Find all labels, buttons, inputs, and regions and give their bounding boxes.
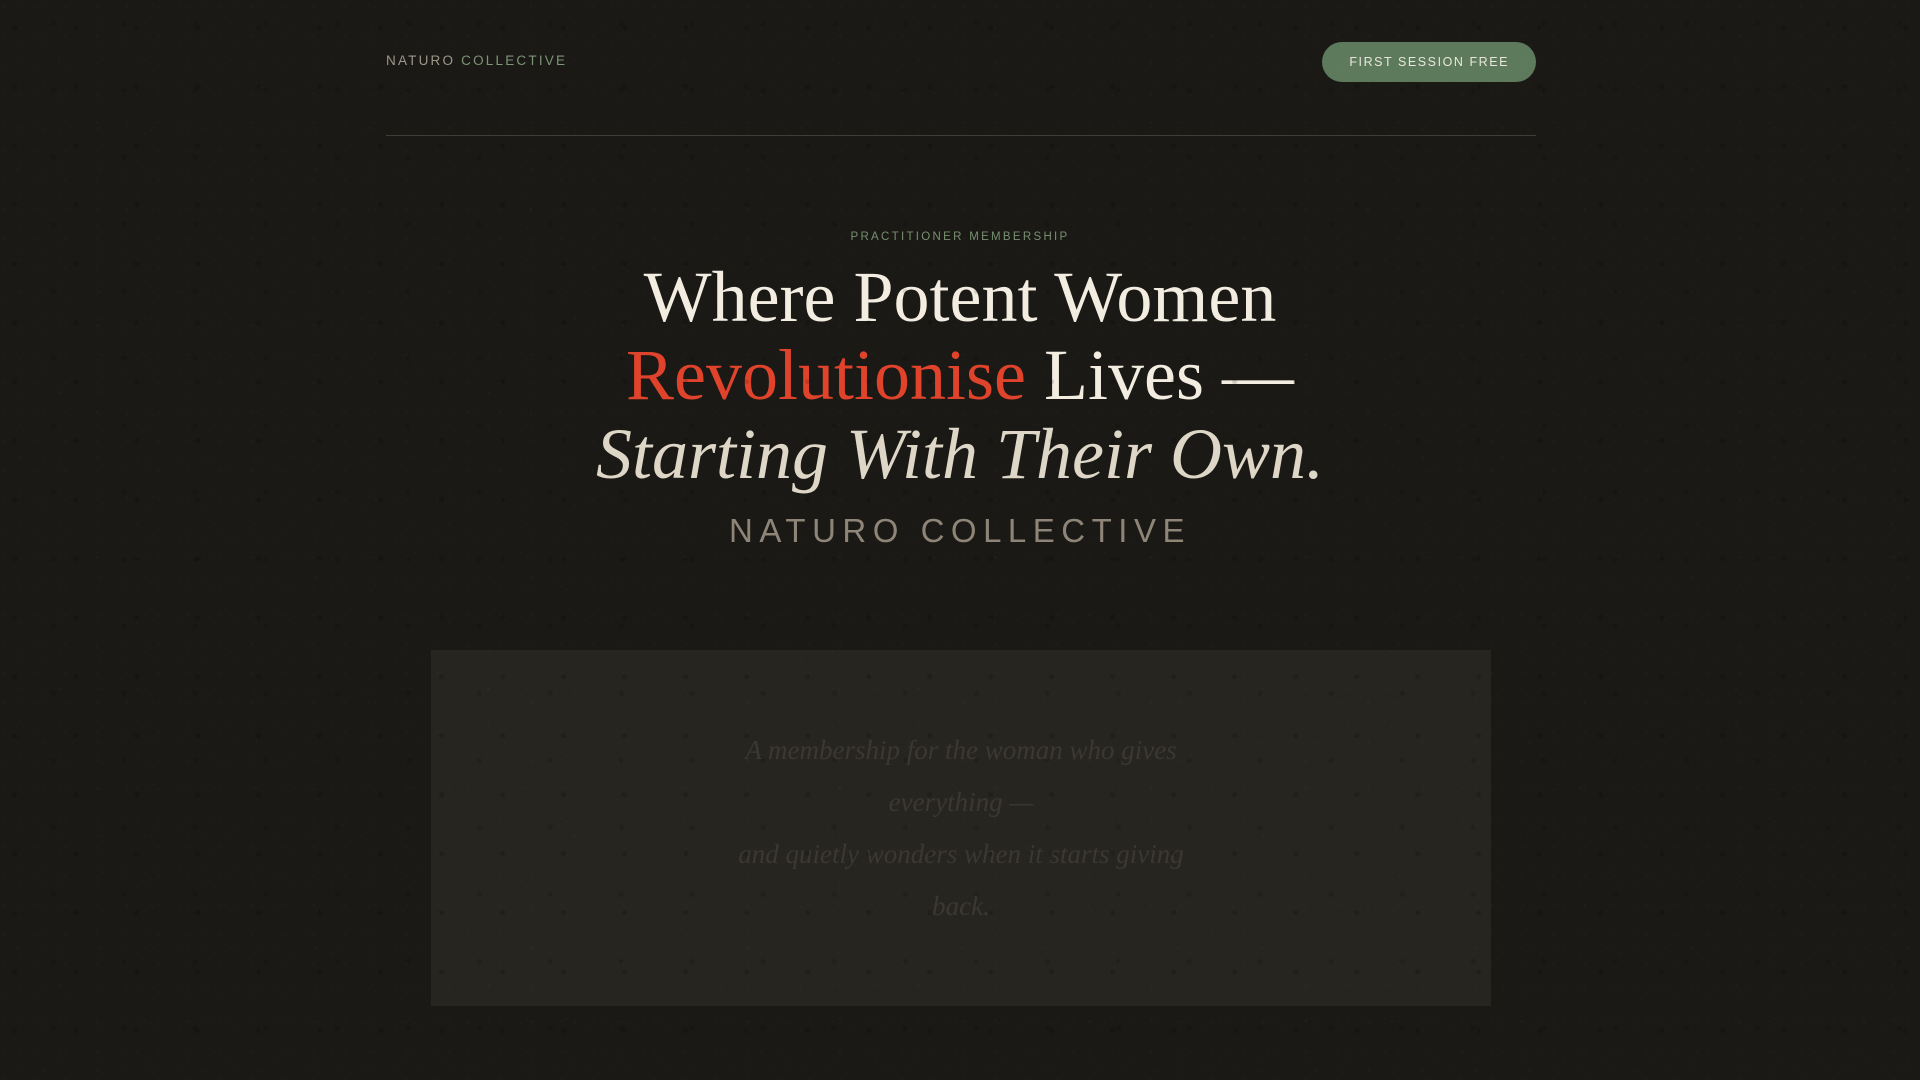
- quote-card: A membership for the woman who gives eve…: [431, 650, 1491, 1006]
- first-session-free-button[interactable]: FIRST SESSION FREE: [1322, 42, 1536, 82]
- hero-subtitle: NATURO COLLECTIVE: [0, 512, 1920, 550]
- headline-line-2-rest: Lives —: [1026, 335, 1294, 415]
- brand-name-primary: NATURO: [386, 53, 455, 68]
- quote-line-3: and quietly wonders when it starts givin…: [738, 828, 1184, 880]
- headline-line-2: Revolutionise Lives —: [0, 336, 1920, 414]
- quote-text: A membership for the woman who gives eve…: [738, 724, 1184, 932]
- headline-line-1: Where Potent Women: [0, 258, 1920, 336]
- quote-line-4: back.: [738, 880, 1184, 932]
- hero-headline: Where Potent Women Revolutionise Lives —…: [0, 258, 1920, 493]
- headline-line-3: Starting With Their Own.: [0, 415, 1920, 493]
- page-root: NATURO COLLECTIVE FIRST SESSION FREE PRA…: [0, 0, 1920, 1080]
- brand-name-secondary: COLLECTIVE: [461, 53, 567, 68]
- quote-line-1: A membership for the woman who gives: [738, 724, 1184, 776]
- quote-line-2: everything —: [738, 776, 1184, 828]
- hero-eyebrow: PRACTITIONER MEMBERSHIP: [0, 231, 1920, 243]
- site-header: NATURO COLLECTIVE FIRST SESSION FREE: [386, 0, 1536, 136]
- brand-logo[interactable]: NATURO COLLECTIVE: [386, 54, 567, 82]
- headline-accent-word: Revolutionise: [626, 335, 1026, 415]
